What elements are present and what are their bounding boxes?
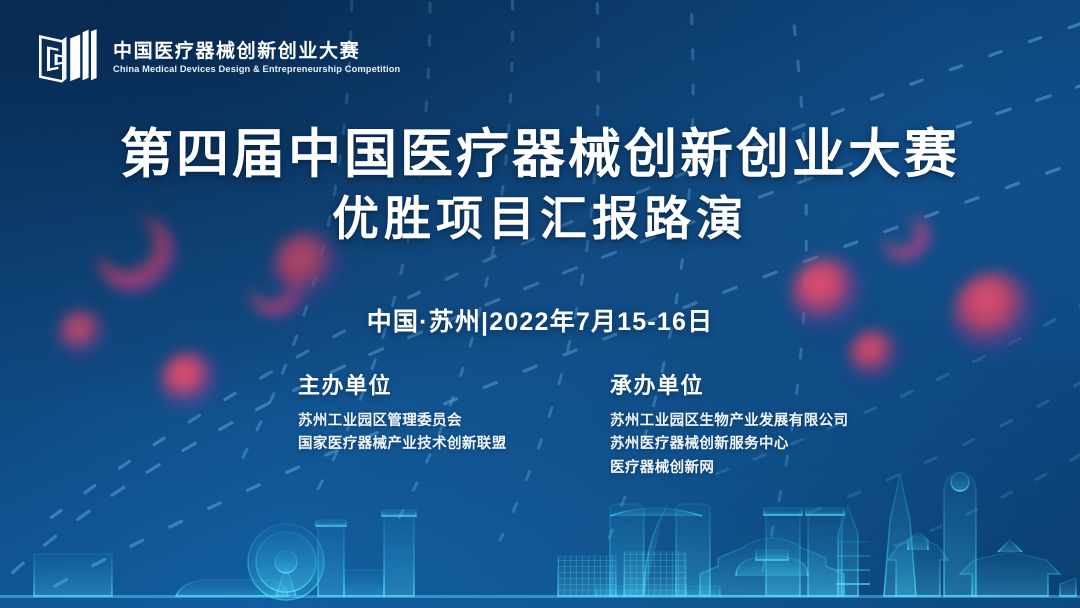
open-door-window-logo-icon — [36, 28, 102, 86]
gradient-sphere-icon — [160, 352, 222, 414]
organizer-line: 苏州医疗器械创新服务中心 — [610, 433, 922, 456]
organizer-block-coorganizer: 承办单位 苏州工业园区生物产业发展有限公司 苏州医疗器械创新服务中心 医疗器械创… — [610, 368, 922, 480]
event-poster: 中国医疗器械创新创业大赛 China Medical Devices Desig… — [0, 0, 1080, 608]
organizer-block-host: 主办单位 苏州工业园区管理委员会 国家医疗器械产业技术创新联盟 — [298, 368, 610, 480]
headline-line-2: 优胜项目汇报路演 — [0, 191, 1080, 247]
headline-line-1: 第四届中国医疗器械创新创业大赛 — [0, 124, 1080, 185]
organizer-title: 承办单位 — [610, 368, 922, 400]
organizer-line: 苏州工业园区管理委员会 — [298, 410, 610, 433]
organizer-line: 国家医疗器械产业技术创新联盟 — [298, 433, 610, 456]
logo-name-cn: 中国医疗器械创新创业大赛 — [113, 42, 406, 63]
competition-logo: 中国医疗器械创新创业大赛 China Medical Devices Desig… — [36, 28, 406, 86]
logo-name-en: China Medical Devices Design & Entrepren… — [113, 65, 400, 75]
event-dateline: 中国·苏州|2022年7月15-16日 — [0, 302, 1080, 338]
organizer-section: 主办单位 苏州工业园区管理委员会 国家医疗器械产业技术创新联盟 承办单位 苏州工… — [298, 368, 922, 480]
poster-headline: 第四届中国医疗器械创新创业大赛 优胜项目汇报路演 — [0, 124, 1080, 248]
organizer-line: 医疗器械创新网 — [610, 457, 922, 480]
suzhou-city-skyline-icon — [0, 458, 1080, 608]
organizer-title: 主办单位 — [298, 368, 610, 400]
organizer-line: 苏州工业园区生物产业发展有限公司 — [610, 410, 922, 433]
